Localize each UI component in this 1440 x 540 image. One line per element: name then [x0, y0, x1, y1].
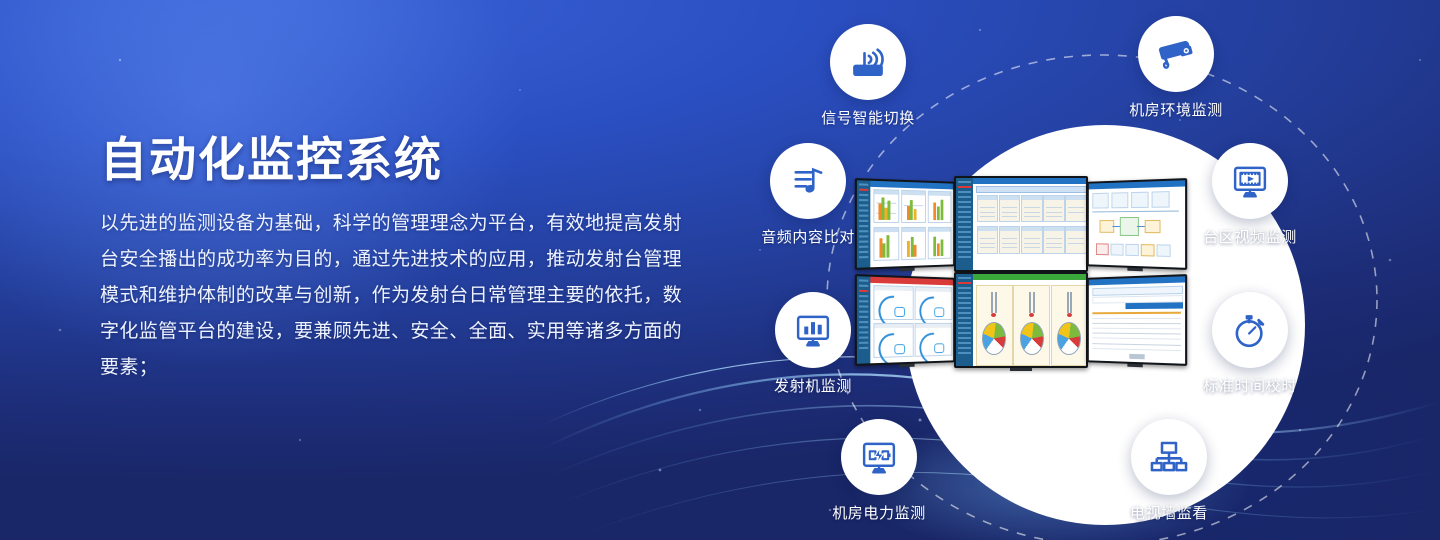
feature-label: 音频内容比对	[730, 226, 886, 247]
hero-text-column: 自动化监控系统 以先进的监测设备为基础，科学的管理理念为平台，有效地提高发射台安…	[100, 132, 700, 386]
network-tree-icon	[1131, 419, 1207, 495]
feature-item-time-sync[interactable]: 标准时间校时	[1172, 292, 1328, 396]
monitor-screen-meters	[954, 272, 1088, 368]
bar-chart-monitor-icon	[775, 292, 851, 368]
cctv-camera-icon	[1138, 16, 1214, 92]
feature-label: 台区视频监测	[1172, 226, 1328, 247]
hero-description: 以先进的监测设备为基础，科学的管理理念为平台，有效地提高发射台安全播出的成功率为…	[100, 206, 700, 386]
hero-banner: 自动化监控系统 以先进的监测设备为基础，科学的管理理念为平台，有效地提高发射台安…	[0, 0, 1440, 540]
feature-item-video-wall[interactable]: 电视墙监看	[1100, 419, 1238, 523]
feature-item-area-video[interactable]: 台区视频监测	[1172, 143, 1328, 247]
feature-item-audio-compare[interactable]: 音频内容比对	[730, 143, 886, 247]
monitor-video-wall	[855, 176, 1185, 366]
feature-item-power-monitor[interactable]: 机房电力监测	[801, 419, 957, 523]
video-monitor-icon	[1212, 143, 1288, 219]
battery-monitor-icon	[841, 419, 917, 495]
feature-label: 机房环境监测	[1098, 99, 1254, 120]
feature-label: 电视墙监看	[1100, 502, 1238, 523]
monitor-screen-data-grid	[954, 176, 1088, 272]
feature-label: 发射机监测	[744, 375, 882, 396]
feature-item-transmitter[interactable]: 发射机监测	[744, 292, 882, 396]
feature-label: 机房电力监测	[801, 502, 957, 523]
stopwatch-icon	[1212, 292, 1288, 368]
feature-item-room-env[interactable]: 机房环境监测	[1098, 16, 1254, 120]
page-title: 自动化监控系统	[100, 132, 700, 188]
music-note-icon	[770, 143, 846, 219]
feature-diagram: 信号智能切换 机房环境监测	[720, 0, 1440, 540]
feature-item-signal-switch[interactable]: 信号智能切换	[803, 24, 933, 128]
feature-label: 标准时间校时	[1172, 375, 1328, 396]
feature-label: 信号智能切换	[803, 107, 933, 128]
router-icon	[830, 24, 906, 100]
